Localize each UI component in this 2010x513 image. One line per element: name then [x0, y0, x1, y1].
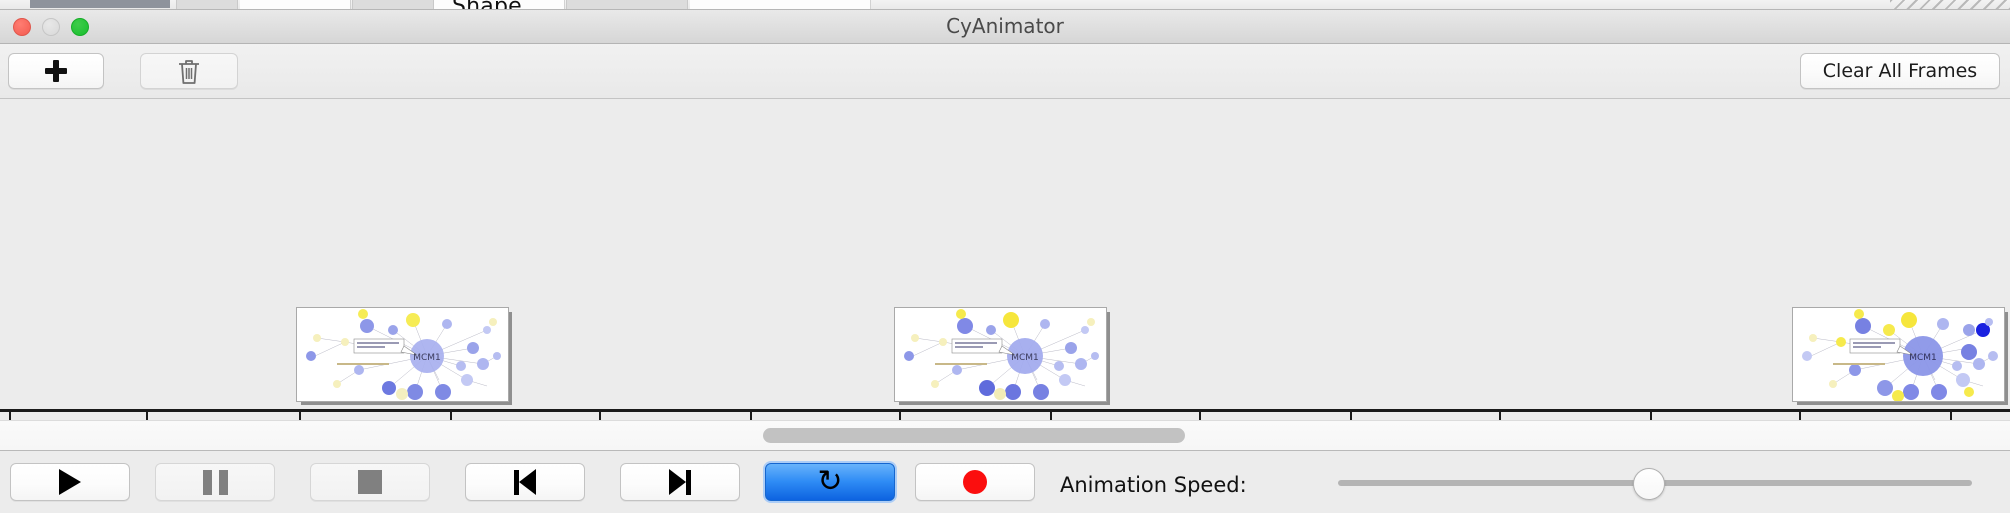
plus-icon — [45, 60, 67, 82]
axis-tick-minor — [1950, 412, 1952, 420]
loop-icon: ↻ — [817, 467, 842, 497]
axis-tick-major — [299, 412, 301, 420]
timeline-panel[interactable]: MCM1 — [0, 99, 2010, 420]
keyframe-thumbnail[interactable]: MCM1 — [296, 307, 512, 405]
svg-text:MCM1: MCM1 — [1011, 353, 1039, 363]
record-icon — [963, 470, 987, 494]
window-title: CyAnimator — [0, 10, 2010, 43]
thumbnail-image: MCM1 — [894, 307, 1107, 402]
axis-tick-minor — [146, 412, 148, 420]
background-parent-window: Shape — [0, 0, 2010, 10]
axis-tick-minor — [1650, 412, 1652, 420]
axis-tick-major — [1799, 412, 1801, 420]
skip-forward-icon — [669, 469, 691, 495]
network-graph-icon: MCM1 — [1793, 308, 2004, 401]
svg-text:MCM1: MCM1 — [1909, 353, 1937, 363]
window-titlebar[interactable]: CyAnimator — [0, 10, 2010, 44]
axis-tick-major — [899, 412, 901, 420]
animation-speed-label: Animation Speed: — [1060, 473, 1247, 497]
axis-tick-minor — [450, 412, 452, 420]
axis-tick-minor — [1350, 412, 1352, 420]
thumbnail-image: MCM1 — [1792, 307, 2005, 402]
play-button[interactable] — [10, 463, 130, 501]
frames-toolbar: Clear All Frames — [0, 44, 2010, 99]
pause-icon — [203, 470, 228, 495]
add-frame-button[interactable] — [8, 53, 104, 89]
record-button[interactable] — [915, 463, 1035, 501]
cyanimator-window-root: Shape CyAnimator — [0, 0, 2010, 510]
scrollbar-thumb[interactable] — [763, 428, 1185, 443]
axis-tick-minor — [750, 412, 752, 420]
cyanimator-window: CyAnimator Clear All Frames — [0, 10, 2010, 510]
keyframe-thumbnail[interactable]: MCM1 — [894, 307, 1110, 405]
svg-text:MCM1: MCM1 — [413, 353, 441, 363]
timeline-scrollbar[interactable] — [0, 420, 2010, 451]
loop-button[interactable]: ↻ — [765, 463, 895, 501]
background-selected-tab — [30, 0, 170, 8]
trash-icon — [176, 57, 202, 85]
network-graph-icon: MCM1 — [895, 308, 1106, 401]
animation-speed-slider-thumb[interactable] — [1633, 468, 1665, 500]
play-icon — [59, 469, 81, 495]
skip-back-button[interactable] — [465, 463, 585, 501]
skip-forward-button[interactable] — [620, 463, 740, 501]
network-graph-icon: MCM1 — [297, 308, 508, 401]
axis-tick-major — [599, 412, 601, 420]
pause-button[interactable] — [155, 463, 275, 501]
axis-tick-major — [9, 412, 11, 420]
timeline-content: MCM1 — [0, 99, 2010, 420]
clear-all-frames-button[interactable]: Clear All Frames — [1800, 53, 2000, 89]
axis-tick-major — [1199, 412, 1201, 420]
thumbnail-image: MCM1 — [296, 307, 509, 402]
delete-frame-button[interactable] — [140, 53, 238, 89]
transport-bar: ↻ Animation Speed: — [0, 451, 2010, 513]
axis-tick-minor — [1050, 412, 1052, 420]
timeline-axis — [0, 409, 2010, 412]
stop-button[interactable] — [310, 463, 430, 501]
stop-icon — [358, 470, 382, 494]
skip-back-icon — [514, 469, 536, 495]
clear-all-frames-label: Clear All Frames — [1823, 60, 1977, 82]
keyframe-thumbnail[interactable]: MCM1 — [1792, 307, 2008, 405]
axis-tick-major — [1499, 412, 1501, 420]
